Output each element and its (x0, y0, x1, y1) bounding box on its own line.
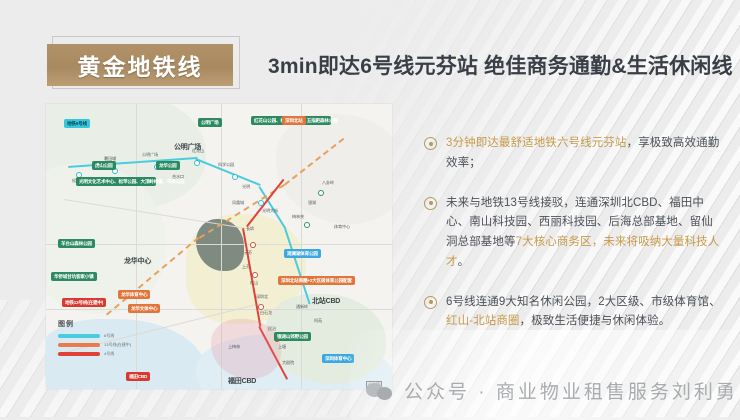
page-title-badge: 黄金地铁线 (47, 44, 233, 86)
map-station-label: 深圳北 (256, 294, 268, 300)
target-bullet-icon (424, 197, 437, 210)
map-area-label: 北站CBD (312, 296, 340, 306)
map-station-label: 光明大街 (262, 208, 278, 214)
map-station-label: 凤凰城 (232, 200, 244, 206)
wechat-icon-bubble-small (377, 387, 392, 400)
map-callout-tag[interactable]: 福田CBD (126, 372, 150, 381)
map-legend-rows: 6号线13号线(在建中)4号线 (58, 333, 144, 357)
map-callout-tag[interactable]: 公明广场 (198, 118, 222, 127)
map-station-label: 八卦岭 (322, 180, 334, 186)
map-callout-tag[interactable]: 华侨城甘坑客家小镇 (51, 272, 97, 281)
map-legend-label: 6号线 (104, 333, 114, 339)
map-station-marker (258, 200, 264, 206)
map-legend-swatch (58, 334, 100, 338)
feature-bullet-text: 未来与地铁13号线接驳，连通深圳北CBD、福田中心、南山科技园、西丽科技园、后海… (446, 194, 724, 273)
header: 黄金地铁线 3min即达6号线元芬站 绝佳商务通勤&生活休闲线 (0, 0, 740, 108)
map-station-label: 体育中心 (334, 224, 350, 230)
map-callout-tag[interactable]: 深圳体育中心 (322, 354, 354, 363)
map-legend-label: 13号线(在建中) (104, 342, 131, 348)
footer: 公众号 公众号 · 商业物业租售服务刘利勇 (366, 377, 738, 404)
map-station-marker (232, 174, 238, 180)
feature-bullet-list: 3分钟即达最舒适地铁六号线元芬站，享极致高效通勤效率；未来与地铁13号线接驳，连… (424, 134, 724, 352)
map-callout-tag[interactable]: 龙华体育中心 (118, 290, 150, 299)
map-callout-tag[interactable]: 银湖山郊野公园 (274, 332, 311, 341)
wechat-icon: 公众号 (366, 381, 396, 401)
map-legend-item: 13号线(在建中) (58, 342, 144, 348)
map-callout-tag[interactable]: 龙华文体中心 (128, 304, 160, 313)
map-callout-tag[interactable]: 龙华公园 (156, 161, 180, 170)
map-terrain-urban-north (276, 114, 392, 224)
map-legend-label: 4号线 (104, 351, 114, 357)
map-legend-title: 图例 (58, 319, 144, 329)
map-station-label: 大剧院 (282, 360, 294, 366)
headline: 3min即达6号线元芬站 绝佳商务通勤&生活休闲线 (268, 50, 733, 80)
map-callout-tag[interactable]: 光明文化艺术中心、松苹公园、大顶岭绿道、苹果公园 (76, 177, 156, 186)
footer-account-name: 公众号 · 商业物业租售服务刘利勇 (404, 377, 738, 404)
map-area-label: 福田CBD (228, 376, 256, 386)
map-station-label: 上梅林 (228, 344, 240, 350)
map-station-label: 长圳 (246, 226, 254, 232)
feature-bullet-segment: ，极致生活便捷与休闲体验。 (520, 315, 671, 327)
map-road (46, 309, 392, 310)
map-legend-item: 4号线 (58, 351, 144, 357)
map-station-label: 公明广场 (142, 152, 158, 158)
map-station-label: 光明 (242, 184, 250, 190)
feature-bullet-segment: 3分钟即达最舒适地铁六号线元芬站 (446, 137, 627, 149)
map-station-label: 梅林关 (292, 214, 304, 220)
map-station-label: 银湖 (308, 200, 316, 206)
map-station-label: 元芬 (244, 250, 252, 256)
map-station-marker (250, 242, 256, 248)
map-callout-tag[interactable]: 深圳北站商圈+2大区级体育公园配套 (278, 276, 355, 285)
map-station-marker (318, 190, 324, 196)
feature-bullet-segment: 6号线连通9大知名休闲公园，2大区级、市级体育馆、 (446, 296, 721, 308)
target-bullet-icon (424, 137, 437, 150)
map-callout-tag[interactable]: 地铁13号线(在建中) (62, 298, 106, 307)
map-station-label: 红山 (250, 280, 258, 286)
map-callout-tag[interactable]: 深圳北站 (282, 116, 306, 125)
map-callout-tag[interactable]: 虎山公园 (92, 161, 116, 170)
feature-bullet: 3分钟即达最舒适地铁六号线元芬站，享极致高效通勤效率； (424, 134, 724, 174)
map-callout-tag[interactable]: 观澜湖体育公园 (284, 249, 321, 258)
map-station-label: 科学公园 (218, 162, 234, 168)
map-station-label: 上塘 (278, 344, 286, 350)
feature-bullet: 6号线连通9大知名休闲公园，2大区级、市级体育馆、红山-北站商圈，极致生活便捷与… (424, 293, 724, 333)
map-legend-item: 6号线 (58, 333, 144, 339)
feature-bullet: 未来与地铁13号线接驳，连通深圳北CBD、福田中心、南山科技园、西丽科技园、后海… (424, 194, 724, 273)
feature-bullet-text: 3分钟即达最舒适地铁六号线元芬站，享极致高效通勤效率； (446, 134, 724, 174)
map-station-marker (252, 272, 258, 278)
map-station-marker (194, 160, 200, 166)
map-area-label: 龙华中心 (124, 256, 151, 266)
map-station-label: 白石龙 (260, 310, 272, 316)
feature-bullet-text: 6号线连通9大知名休闲公园，2大区级、市级体育馆、红山-北站商圈，极致生活便捷与… (446, 293, 724, 333)
map-station-label: 通新岭 (296, 304, 308, 310)
metro-line-map[interactable]: 松岗薯田埔公明广场合水口红花山科学公园光明光明大街凤凰城长圳元芬上芬红山深圳北白… (46, 104, 392, 389)
feature-bullet-segment: 。 (458, 256, 470, 268)
map-legend-swatch (58, 343, 100, 347)
map-callout-tag[interactable]: 地铁6号线 (64, 119, 90, 128)
map-station-label: 上芬 (242, 264, 250, 270)
map-road (301, 104, 302, 389)
map-callout-tag[interactable]: 羊台山森林公园 (58, 239, 95, 248)
map-legend: 图例 6号线13号线(在建中)4号线 (58, 319, 144, 360)
map-legend-swatch (58, 352, 100, 356)
map-area-label: 公明广场 (174, 142, 201, 152)
map-station-label: 科苑 (314, 318, 322, 324)
map-road (46, 244, 392, 245)
feature-bullet-segment: 红山-北站商圈 (446, 315, 520, 327)
map-station-marker (304, 222, 310, 228)
target-bullet-icon (424, 296, 437, 309)
